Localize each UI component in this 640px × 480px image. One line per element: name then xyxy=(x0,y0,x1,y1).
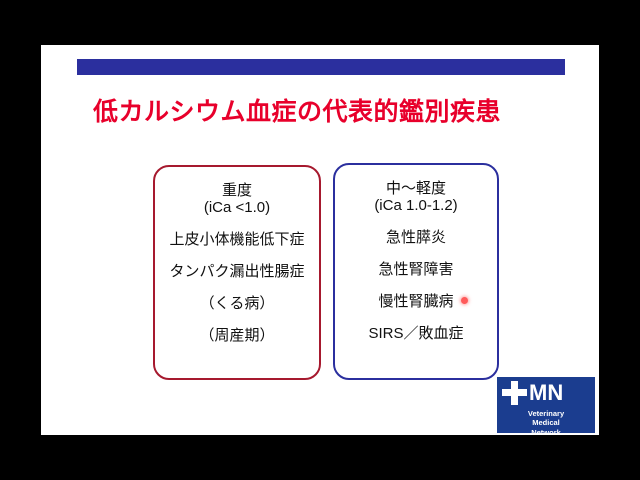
veterinary-medical-network-logo: MN Veterinary Medical Network xyxy=(497,377,595,433)
list-item: 急性腎障害 xyxy=(335,262,497,277)
list-item: 急性膵炎 xyxy=(335,230,497,245)
page-title: 低カルシウム血症の代表的鑑別疾患 xyxy=(93,92,563,128)
video-frame: 低カルシウム血症の代表的鑑別疾患 重度 (iCa <1.0) 上皮小体機能低下症… xyxy=(0,0,640,480)
mild-category-box: 中〜軽度 (iCa 1.0-1.2) 急性膵炎 急性腎障害 慢性腎臓病 SIRS… xyxy=(333,163,499,380)
severe-box-content: 重度 (iCa <1.0) 上皮小体機能低下症 タンパク漏出性腸症 （くる病） … xyxy=(155,167,319,343)
severe-heading-secondary: (iCa <1.0) xyxy=(155,200,319,215)
logo-initials: MN xyxy=(529,382,563,404)
logo-subtitle-line-1: Veterinary xyxy=(499,409,593,418)
list-item: 慢性腎臓病 xyxy=(335,294,497,309)
logo-top-row: MN xyxy=(497,377,595,409)
mild-box-content: 中〜軽度 (iCa 1.0-1.2) 急性膵炎 急性腎障害 慢性腎臓病 SIRS… xyxy=(335,165,497,341)
severe-heading-primary: 重度 xyxy=(155,183,319,198)
list-item: タンパク漏出性腸症 xyxy=(155,264,319,279)
list-item: （周産期） xyxy=(155,328,319,343)
logo-subtitle-line-3: Network xyxy=(499,428,593,433)
logo-subtitle-line-2: Medical xyxy=(499,418,593,427)
mild-heading-secondary: (iCa 1.0-1.2) xyxy=(335,198,497,213)
list-item: 上皮小体機能低下症 xyxy=(155,232,319,247)
veterinary-cross-icon xyxy=(501,380,527,406)
slide-title-accent-bar xyxy=(77,59,565,75)
list-item: （くる病） xyxy=(155,296,319,311)
severe-category-box: 重度 (iCa <1.0) 上皮小体機能低下症 タンパク漏出性腸症 （くる病） … xyxy=(153,165,321,380)
presentation-slide: 低カルシウム血症の代表的鑑別疾患 重度 (iCa <1.0) 上皮小体機能低下症… xyxy=(41,45,599,435)
mild-heading-primary: 中〜軽度 xyxy=(335,181,497,196)
logo-subtitle: Veterinary Medical Network xyxy=(497,409,595,433)
list-item: SIRS／敗血症 xyxy=(335,326,497,341)
laser-pointer-dot xyxy=(461,297,468,304)
